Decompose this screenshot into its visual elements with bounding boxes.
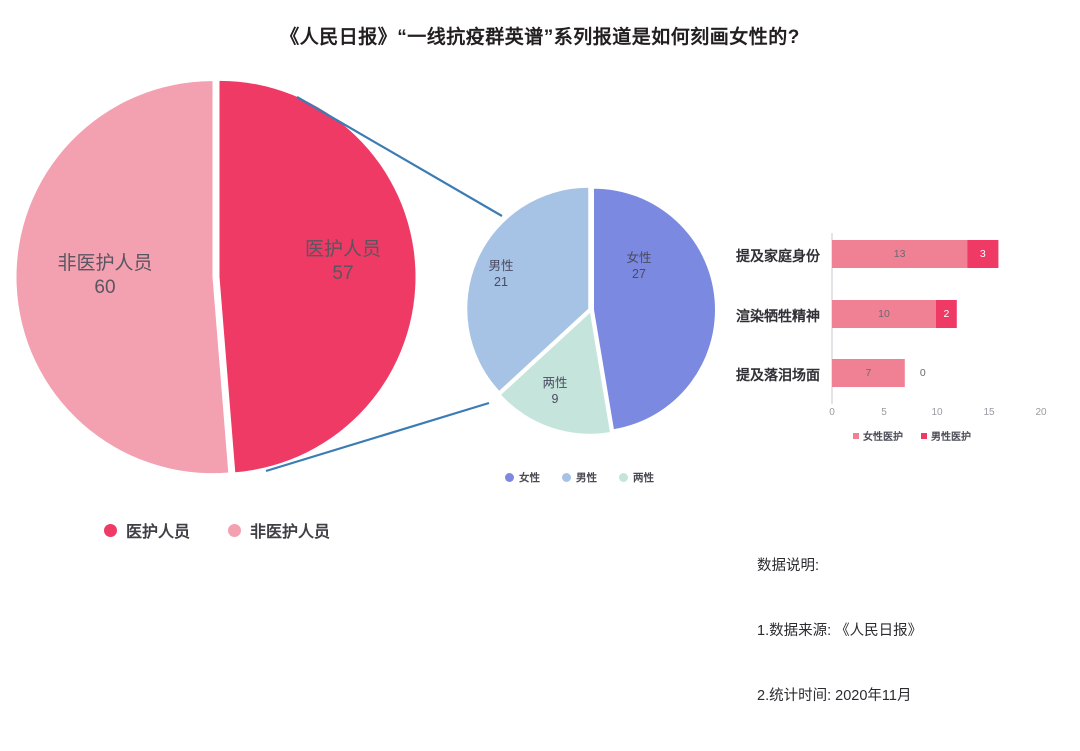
legend-dot-icon — [228, 524, 241, 537]
gender-pie-slice-female[interactable] — [594, 189, 715, 429]
bar-category-0: 提及家庭身份 — [710, 246, 820, 266]
data-note: 数据说明: 1.数据来源: 《人民日报》 2.统计时间: 2020年11月 — [757, 512, 922, 751]
main-pie-slice-medical[interactable] — [219, 81, 415, 472]
legend-item-male-medical[interactable]: 男性医护 — [921, 428, 971, 443]
legend-label: 男性医护 — [931, 428, 971, 443]
legend-label: 男性 — [576, 470, 597, 485]
bar-tick-1: 5 — [872, 407, 896, 418]
bar-tick-2: 10 — [925, 407, 949, 418]
legend-item-medical[interactable]: 医护人员 — [104, 518, 190, 542]
legend-label: 两性 — [633, 470, 654, 485]
bar-chart-legend: 女性医护 男性医护 — [853, 428, 971, 443]
bar-tick-4: 20 — [1029, 407, 1053, 418]
bar-value-male-0: 3 — [968, 248, 998, 260]
bar-category-2: 提及落泪场面 — [710, 365, 820, 385]
note-line-1: 数据说明: — [757, 556, 922, 578]
legend-square-icon — [853, 433, 859, 439]
bar-value-female-2: 7 — [853, 367, 883, 379]
legend-square-icon — [921, 433, 927, 439]
legend-item-both[interactable]: 两性 — [619, 470, 654, 485]
bar-value-male-1: 2 — [931, 308, 961, 320]
note-line-3: 2.统计时间: 2020年11月 — [757, 686, 922, 708]
bar-value-female-1: 10 — [869, 308, 899, 320]
legend-item-nonmedical[interactable]: 非医护人员 — [228, 518, 330, 542]
legend-dot-icon — [619, 473, 628, 482]
legend-dot-icon — [104, 524, 117, 537]
bar-value-female-0: 13 — [885, 248, 915, 260]
legend-dot-icon — [505, 473, 514, 482]
bar-category-1: 渲染牺牲精神 — [710, 306, 820, 326]
legend-label: 女性 — [519, 470, 540, 485]
bar-tick-3: 15 — [977, 407, 1001, 418]
legend-label: 女性医护 — [863, 428, 903, 443]
main-pie-legend: 医护人员 非医护人员 — [104, 518, 330, 542]
main-pie-slice-nonmedical[interactable] — [17, 81, 229, 473]
legend-label: 非医护人员 — [250, 518, 330, 542]
legend-item-male[interactable]: 男性 — [562, 470, 597, 485]
note-line-2: 1.数据来源: 《人民日报》 — [757, 621, 922, 643]
infographic-canvas: 《人民日报》“一线抗疫群英谱”系列报道是如何刻画女性的? 非医护人员 60 医护… — [0, 0, 1080, 608]
gender-pie-legend: 女性 男性 两性 — [505, 470, 654, 485]
legend-label: 医护人员 — [126, 518, 190, 542]
legend-item-female[interactable]: 女性 — [505, 470, 540, 485]
bar-tick-0: 0 — [820, 407, 844, 418]
legend-item-female-medical[interactable]: 女性医护 — [853, 428, 903, 443]
legend-dot-icon — [562, 473, 571, 482]
bar-value-male-2: 0 — [908, 367, 938, 379]
